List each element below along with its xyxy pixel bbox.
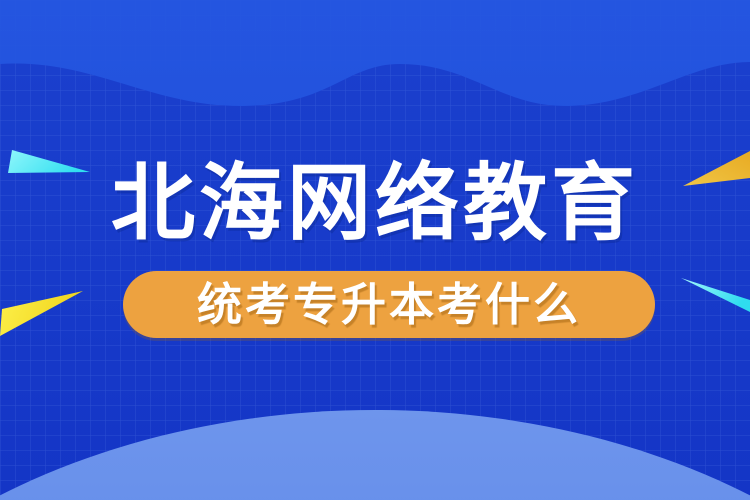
grid-overlay-top [0,0,750,70]
subtitle-pill: 统考专升本考什么 [123,271,655,338]
promo-banner: 北海网络教育 统考专升本考什么 [0,0,750,500]
subtitle-pill-label: 统考专升本考什么 [197,282,581,327]
banner-headline: 北海网络教育 [0,153,750,253]
